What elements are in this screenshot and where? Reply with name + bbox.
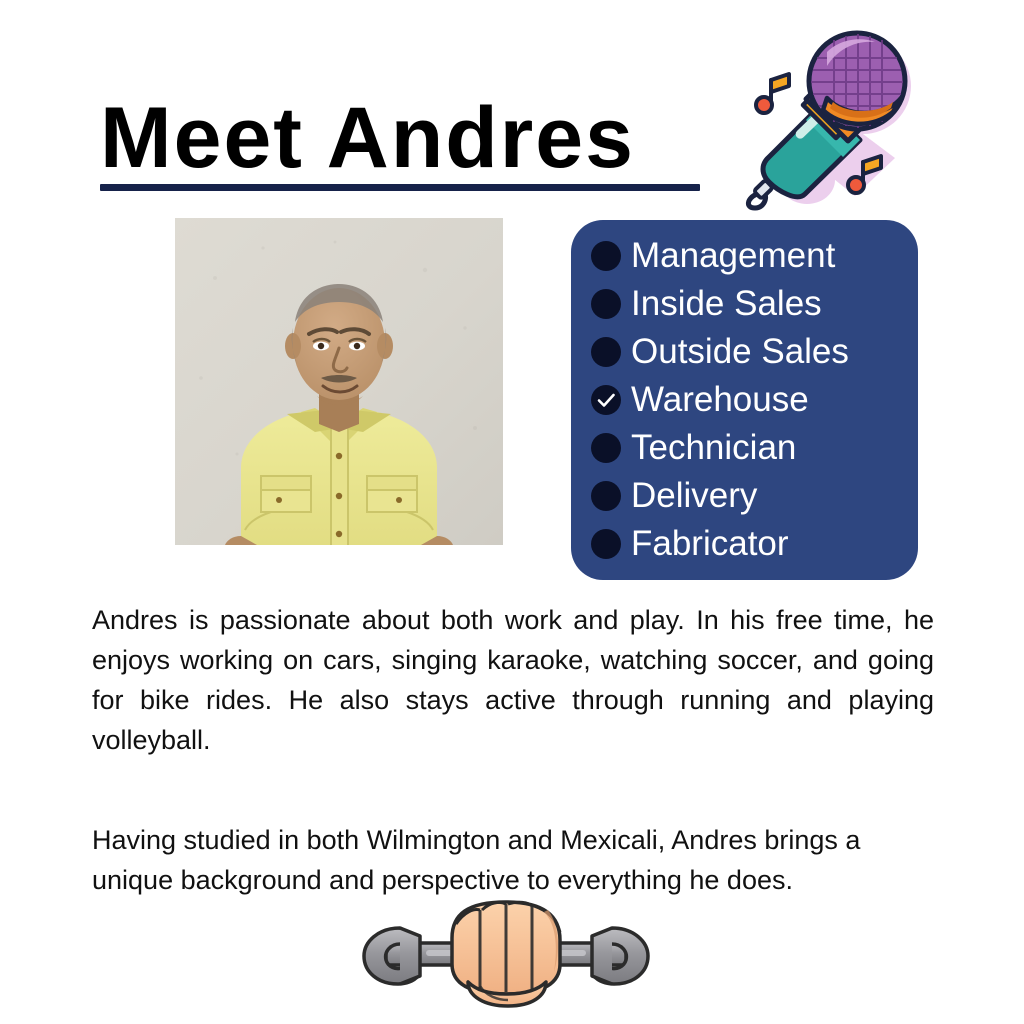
bullet-circle-icon	[591, 289, 621, 319]
role-item-fabricator[interactable]: Fabricator	[571, 520, 918, 568]
role-item-delivery[interactable]: Delivery	[571, 472, 918, 520]
role-label: Management	[631, 236, 835, 276]
roles-panel: Management Inside Sales Outside Sales Wa…	[571, 220, 918, 580]
portrait-photo	[175, 218, 503, 545]
bio-text-block: Andres is passionate about both work and…	[92, 600, 934, 900]
microphone-illustration	[735, 18, 925, 213]
bullet-circle-icon	[591, 241, 621, 271]
role-item-inside-sales[interactable]: Inside Sales	[571, 280, 918, 328]
role-label: Warehouse	[631, 380, 809, 420]
role-label: Outside Sales	[631, 332, 849, 372]
bullet-circle-icon	[591, 337, 621, 367]
bio-paragraph-2: Having studied in both Wilmington and Me…	[92, 820, 934, 900]
paragraph-spacer	[92, 760, 934, 820]
check-circle-icon	[591, 385, 621, 415]
role-item-outside-sales[interactable]: Outside Sales	[571, 328, 918, 376]
bullet-circle-icon	[591, 481, 621, 511]
role-label: Fabricator	[631, 524, 789, 564]
title-underline-rule	[100, 184, 700, 191]
bullet-circle-icon	[591, 529, 621, 559]
role-label: Delivery	[631, 476, 757, 516]
bio-paragraph-1: Andres is passionate about both work and…	[92, 600, 934, 760]
header: Meet Andres	[100, 86, 740, 196]
role-label: Technician	[631, 428, 796, 468]
music-note-icon	[756, 74, 789, 113]
role-item-technician[interactable]: Technician	[571, 424, 918, 472]
fist-holding-wrench-illustration	[356, 898, 656, 1008]
role-item-management[interactable]: Management	[571, 232, 918, 280]
role-item-warehouse[interactable]: Warehouse	[571, 376, 918, 424]
page-title: Meet Andres	[100, 86, 740, 190]
role-label: Inside Sales	[631, 284, 822, 324]
bullet-circle-icon	[591, 433, 621, 463]
